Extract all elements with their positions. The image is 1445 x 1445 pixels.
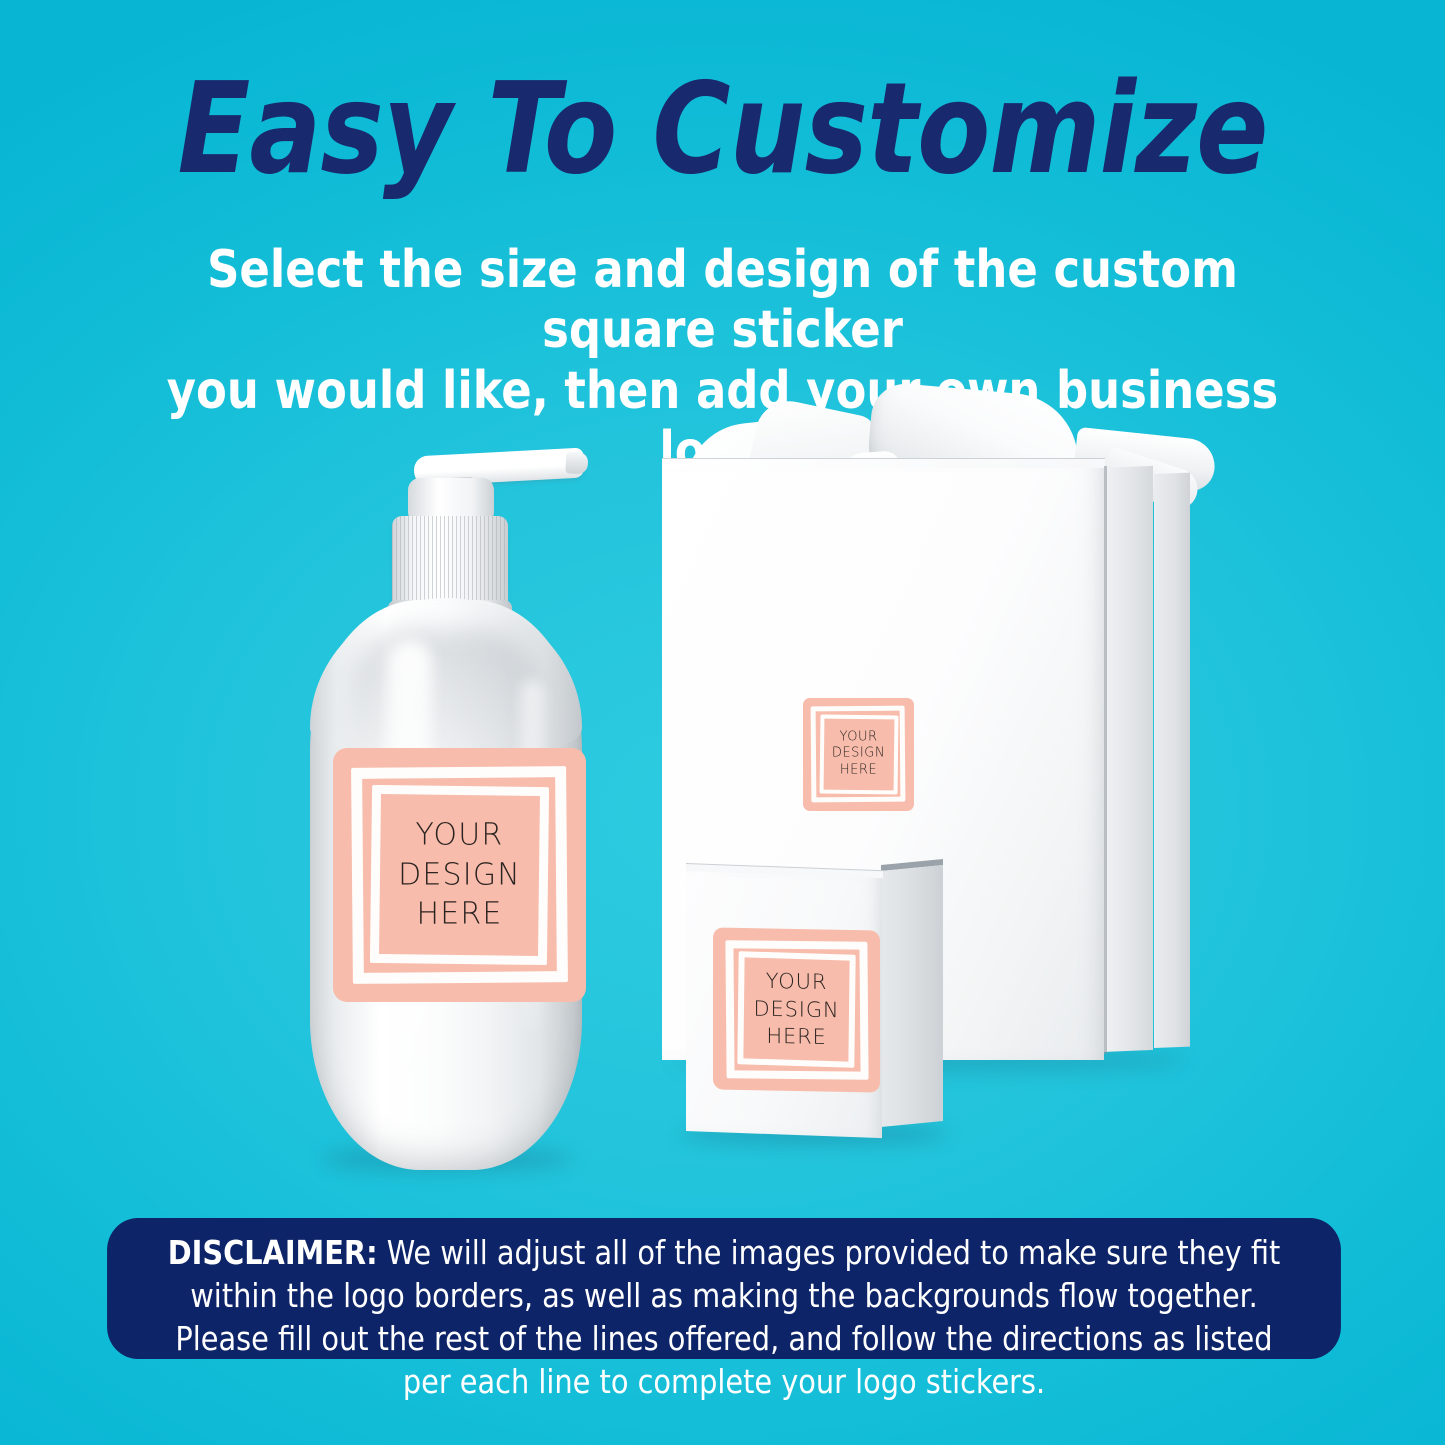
sticker-on-small-box: YOUR DESIGN HERE: [713, 927, 880, 1092]
sticker-text: YOUR DESIGN HERE: [713, 967, 880, 1053]
disclaimer-label: DISCLAIMER:: [168, 1233, 378, 1272]
sticker-on-bottle: YOUR DESIGN HERE: [333, 748, 586, 1002]
gift-box-lid-seam: [1104, 466, 1107, 1054]
page-title: Easy To Customize: [43, 62, 1401, 196]
sticker-text-line-1: YOUR: [803, 729, 914, 746]
gift-box-side-panel-far: [1154, 473, 1190, 1048]
disclaimer-box: DISCLAIMER: We will adjust all of the im…: [107, 1218, 1341, 1359]
sticker-text: YOUR DESIGN HERE: [333, 816, 586, 935]
sticker-text-line-3: HERE: [333, 895, 586, 935]
sticker-text-line-3: HERE: [803, 763, 914, 780]
sticker-text-line-2: DESIGN: [333, 855, 586, 895]
sticker-text-line-1: YOUR: [333, 816, 586, 856]
sticker-text-line-2: DESIGN: [803, 746, 914, 763]
gift-box-top-edge: [662, 458, 1105, 468]
sticker-text: YOUR DESIGN HERE: [803, 729, 914, 780]
sticker-text-line-3: HERE: [713, 1022, 880, 1053]
sticker-text-line-1: YOUR: [713, 967, 880, 998]
small-box-side-panel: [881, 865, 943, 1127]
promo-graphic: Easy To Customize Select the size and de…: [0, 0, 1445, 1445]
sticker-text-line-2: DESIGN: [713, 995, 880, 1026]
sticker-on-gift-box: YOUR DESIGN HERE: [803, 698, 914, 811]
gift-box-side-panel: [1103, 466, 1153, 1052]
subtitle-line-1: Select the size and design of the custom…: [135, 240, 1311, 361]
